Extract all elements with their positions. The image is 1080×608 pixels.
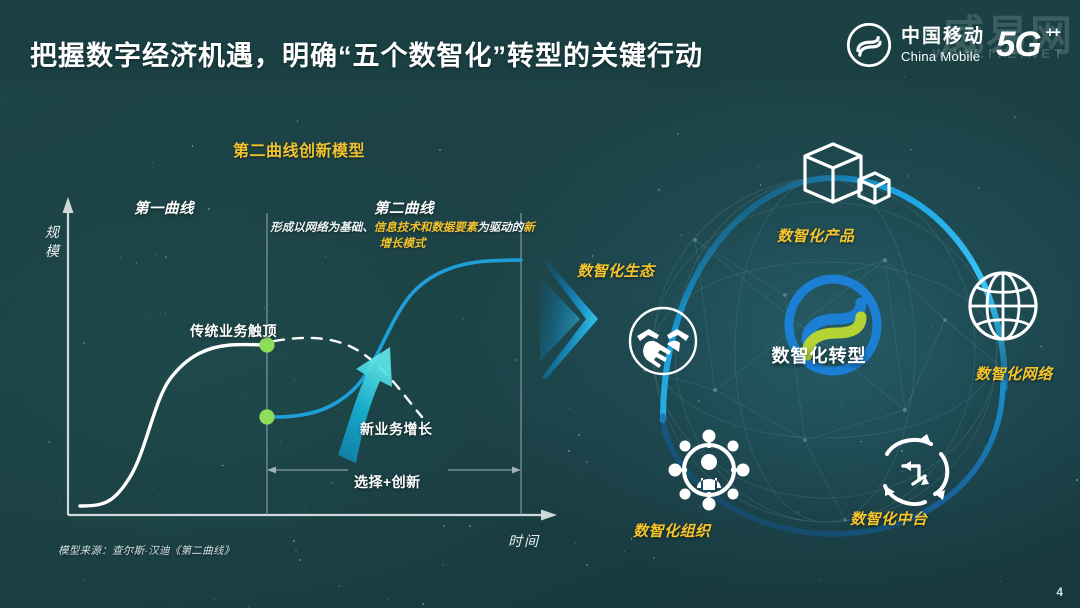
node-label-product: 数智化产品 (777, 225, 855, 246)
china-mobile-logo-icon (846, 22, 892, 68)
chart-source-note: 模型来源：查尔斯·汉迪《第二曲线》 (58, 543, 235, 558)
page-number: 4 (1056, 585, 1063, 599)
node-label-organization: 数智化组织 (633, 520, 711, 541)
slide-root: 把握数字经济机遇，明确“五个数智化”转型的关键行动 中国移动 China Mob… (0, 0, 1080, 608)
node-label-middle-platform: 数智化中台 (850, 508, 928, 529)
marker-new-growth-start (259, 409, 274, 424)
node-label-network: 数智化网络 (975, 363, 1053, 384)
series-first-curve (80, 345, 267, 506)
brand-name-en: China Mobile (901, 50, 985, 63)
model-note-highlight-1: 信息技术和数据要素 (374, 222, 478, 234)
slide-header: 把握数字经济机遇，明确“五个数智化”转型的关键行动 中国移动 China Mob… (0, 0, 1080, 96)
node-label-ecosystem: 数智化生态 (577, 260, 655, 281)
five-g-plus-label: ++ (1045, 24, 1059, 41)
five-g-badge: 5G ++ (996, 23, 1058, 67)
brand-text: 中国移动 China Mobile (901, 27, 985, 63)
chart-canvas (18, 125, 588, 580)
brand-logo: 中国移动 China Mobile 5G ++ (846, 22, 1058, 68)
model-note-prefix: 形成以网络为基础、 (270, 222, 374, 234)
x-axis-label: 时间 (508, 531, 540, 551)
peak-label: 传统业务触顶 (190, 321, 277, 341)
growth-arrow-icon (338, 347, 392, 463)
y-axis-label: 规模 (42, 223, 62, 261)
globe-icon (970, 273, 1036, 339)
five-g-label: 5G (996, 25, 1041, 64)
series-first-curve-decline (274, 338, 422, 417)
new-growth-label: 新业务增长 (360, 419, 433, 439)
center-label: 数智化转型 (739, 342, 899, 368)
brand-name-cn: 中国移动 (901, 27, 985, 46)
model-note: 形成以网络为基础、信息技术和数据要素为驱动的新增长模式 (265, 220, 540, 252)
first-curve-label: 第一曲线 (134, 197, 194, 218)
choice-innovation-label: 选择+创新 (354, 472, 421, 492)
second-curve-label: 第二曲线 (374, 197, 434, 218)
page-title: 把握数字经济机遇，明确“五个数智化”转型的关键行动 (30, 34, 703, 73)
model-note-middle: 为驱动的 (477, 222, 523, 234)
transformation-diagram: 数智化产品 数智化网络 数智化中台 数智化组织 数智化生态 数智化转型 (585, 120, 1080, 590)
second-curve-chart: 第二曲线创新模型 (18, 125, 588, 580)
